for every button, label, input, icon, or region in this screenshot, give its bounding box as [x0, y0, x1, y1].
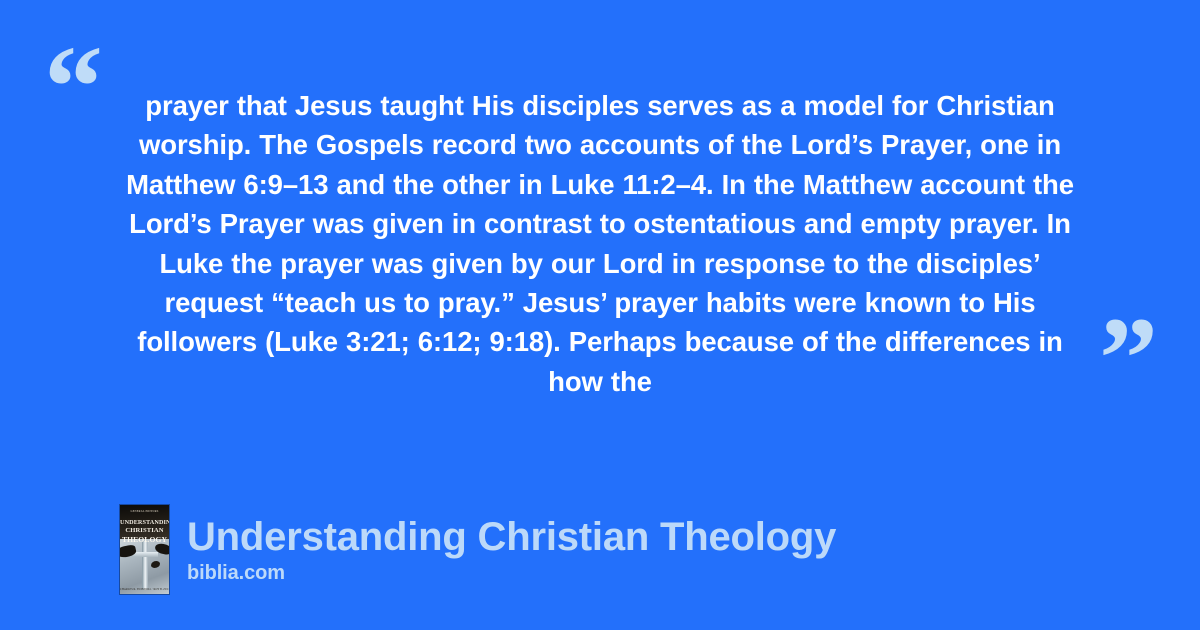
- quote-text: prayer that Jesus taught His disciples s…: [118, 86, 1082, 401]
- book-title[interactable]: Understanding Christian Theology: [187, 515, 836, 559]
- source-info: Understanding Christian Theology biblia.…: [187, 515, 836, 585]
- book-cover-title-line-1: UNDERSTANDING: [120, 520, 169, 526]
- book-cover-title-line-3: THEOLOGY: [120, 536, 169, 544]
- book-cover-imprint: GENERAL EDITORS: [120, 511, 169, 514]
- book-cover-thumbnail[interactable]: GENERAL EDITORS UNDERSTANDING CHRISTIAN …: [120, 505, 169, 594]
- book-cover-title-line-2: CHRISTIAN: [120, 528, 169, 535]
- source-domain[interactable]: biblia.com: [187, 561, 836, 585]
- close-quote-icon: ”: [1099, 300, 1158, 418]
- cross-vertical-icon: [142, 541, 148, 591]
- quote-block: “ prayer that Jesus taught His disciples…: [0, 0, 1200, 460]
- quote-card: “ prayer that Jesus taught His disciples…: [0, 0, 1200, 630]
- open-quote-icon: “: [44, 28, 103, 146]
- book-cover-authors: CHARLES R. SWINDOLL · ROY B. ZUCK: [120, 589, 169, 592]
- source-footer[interactable]: GENERAL EDITORS UNDERSTANDING CHRISTIAN …: [120, 505, 836, 594]
